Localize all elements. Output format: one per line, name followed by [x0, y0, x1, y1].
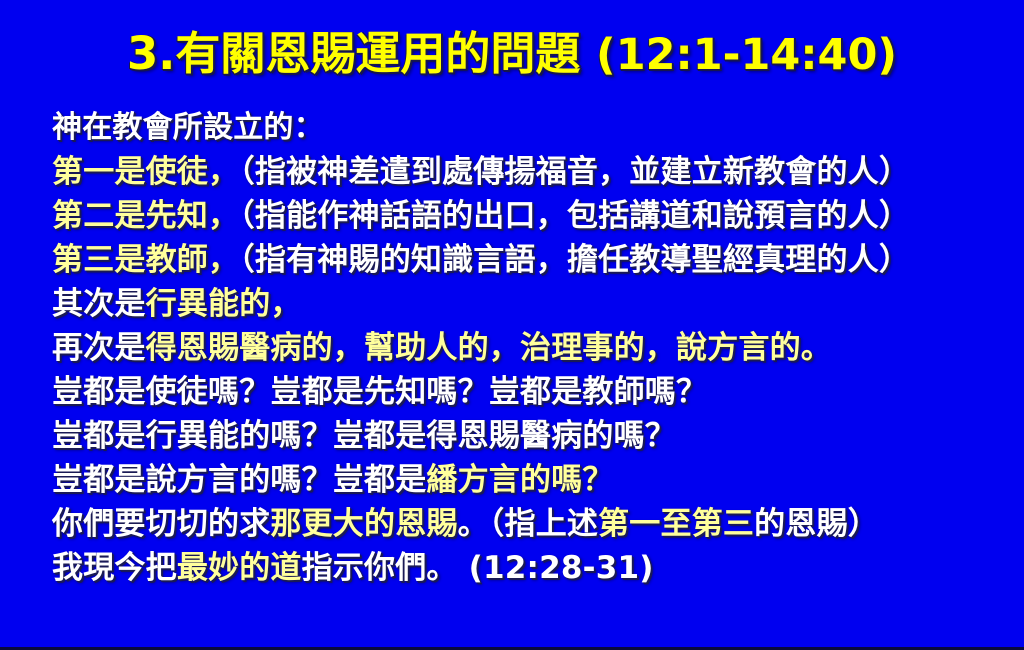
- body-text: 我現今把: [52, 550, 177, 586]
- body-text: （指能作神話語的出口，包括講道和說預言的人）: [239, 198, 910, 234]
- highlight-text: 第三是教師，: [52, 242, 239, 278]
- presentation-slide: 3.有關恩賜運用的問題 (12:1-14:40) 神在教會所設立的：第一是使徒，…: [0, 0, 1024, 650]
- text-line: 神在教會所設立的：: [52, 106, 1002, 150]
- highlight-text: 行異能的，: [146, 286, 302, 322]
- slide-title-main: 3.有關恩賜運用的問題: [127, 27, 580, 80]
- text-line: 其次是行異能的，: [52, 282, 1002, 326]
- highlight-text: 繙方言的嗎？: [426, 462, 613, 498]
- text-line: 再次是得恩賜醫病的，幫助人的，治理事的，說方言的。: [52, 326, 1002, 370]
- body-text: 豈都是說方言的嗎？豈都是: [52, 462, 426, 498]
- text-line: 豈都是行異能的嗎？豈都是得恩賜醫病的嗎？: [52, 414, 1002, 458]
- body-text: 豈都是行異能的嗎？豈都是得恩賜醫病的嗎？: [52, 418, 676, 454]
- text-line: 我現今把最妙的道指示你們。 (12:28-31): [52, 546, 1002, 590]
- text-line: 第二是先知，（指能作神話語的出口，包括講道和說預言的人）: [52, 194, 1002, 238]
- body-text: 再次是: [52, 330, 146, 366]
- body-text: 指示你們。 (12:28-31): [302, 550, 654, 586]
- highlight-text: 第一是使徒，: [52, 154, 239, 190]
- body-text: 的恩賜）: [754, 506, 879, 542]
- slide-title-reference: (12:1-14:40): [596, 30, 897, 80]
- highlight-text: 第二是先知，: [52, 198, 239, 234]
- body-text: 你們要切切的求: [52, 506, 270, 542]
- slide-body: 神在教會所設立的：第一是使徒，（指被神差遣到處傳揚福音，並建立新教會的人）第二是…: [52, 106, 1002, 590]
- text-line: 第一是使徒，（指被神差遣到處傳揚福音，並建立新教會的人）: [52, 150, 1002, 194]
- body-text: 神在教會所設立的：: [52, 110, 324, 145]
- body-text: （指有神賜的知識言語，擔任教導聖經真理的人）: [239, 242, 910, 278]
- page-title: 3.有關恩賜運用的問題 (12:1-14:40): [0, 26, 1024, 83]
- text-line: 豈都是說方言的嗎？豈都是繙方言的嗎？: [52, 458, 1002, 502]
- text-line: 豈都是使徒嗎？豈都是先知嗎？豈都是教師嗎？: [52, 370, 1002, 414]
- highlight-text: 第一至第三: [598, 506, 754, 542]
- body-text: 豈都是使徒嗎？豈都是先知嗎？豈都是教師嗎？: [52, 374, 707, 410]
- body-text: 其次是: [52, 286, 146, 322]
- text-line: 第三是教師，（指有神賜的知識言語，擔任教導聖經真理的人）: [52, 238, 1002, 282]
- highlight-text: 得恩賜醫病的，幫助人的，治理事的，說方言的。: [146, 330, 832, 366]
- highlight-text: 最妙的道: [177, 550, 302, 586]
- text-line: 你們要切切的求那更大的恩賜。（指上述第一至第三的恩賜）: [52, 502, 1002, 546]
- body-text: 。（指上述: [458, 506, 599, 542]
- body-text: （指被神差遣到處傳揚福音，並建立新教會的人）: [239, 154, 910, 190]
- highlight-text: 那更大的恩賜: [270, 506, 457, 542]
